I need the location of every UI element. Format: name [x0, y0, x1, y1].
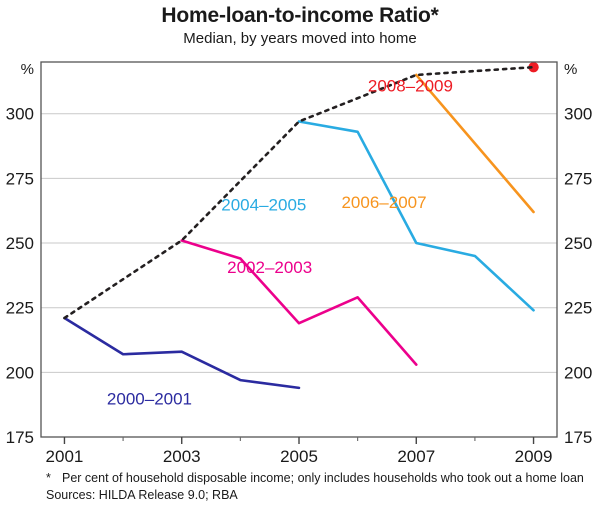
grid-lines: [41, 114, 557, 373]
series-line: [299, 121, 534, 310]
x-tick-label: 2009: [515, 447, 553, 466]
x-tick-label: 2005: [280, 447, 318, 466]
y-tick-label-right: 200: [564, 363, 592, 382]
y-axis-unit-left: %: [21, 61, 34, 78]
series-line-dashed: [64, 67, 533, 318]
y-tick-label-left: 175: [6, 428, 34, 447]
series-label: 2002–2003: [227, 258, 312, 277]
footnote-text: Per cent of household disposable income;…: [62, 471, 584, 485]
series-label: 2000–2001: [107, 390, 192, 409]
y-tick-label-right: 225: [564, 299, 592, 318]
series-label: 2004–2005: [221, 196, 306, 215]
plot-frame: [41, 62, 557, 437]
footnote-row: * Per cent of household disposable incom…: [10, 470, 590, 487]
chart-plot-area: 175175200200225225250250275275300300%%20…: [0, 0, 600, 524]
y-axis-unit-right: %: [564, 61, 577, 78]
y-tick-label-right: 250: [564, 234, 592, 253]
x-tick-label: 2001: [46, 447, 84, 466]
series-line: [64, 318, 299, 388]
series-label: 2006–2007: [341, 193, 426, 212]
y-tick-label-right: 275: [564, 169, 592, 188]
y-tick-label-left: 275: [6, 169, 34, 188]
data-series-layer: [64, 62, 538, 388]
footnote-mark: *: [46, 470, 51, 487]
y-tick-label-left: 300: [6, 105, 34, 124]
series-label: 2008–2009: [368, 77, 453, 96]
sources-text: Sources: HILDA Release 9.0; RBA: [10, 487, 590, 504]
y-tick-label-right: 300: [564, 105, 592, 124]
chart-figure: Home-loan-to-income Ratio* Median, by ye…: [0, 0, 600, 524]
y-tick-label-left: 250: [6, 234, 34, 253]
x-tick-label: 2007: [397, 447, 435, 466]
y-tick-label-left: 200: [6, 363, 34, 382]
y-tick-label-left: 225: [6, 299, 34, 318]
y-tick-label-right: 175: [564, 428, 592, 447]
chart-notes: * Per cent of household disposable incom…: [10, 470, 590, 503]
x-tick-label: 2003: [163, 447, 201, 466]
